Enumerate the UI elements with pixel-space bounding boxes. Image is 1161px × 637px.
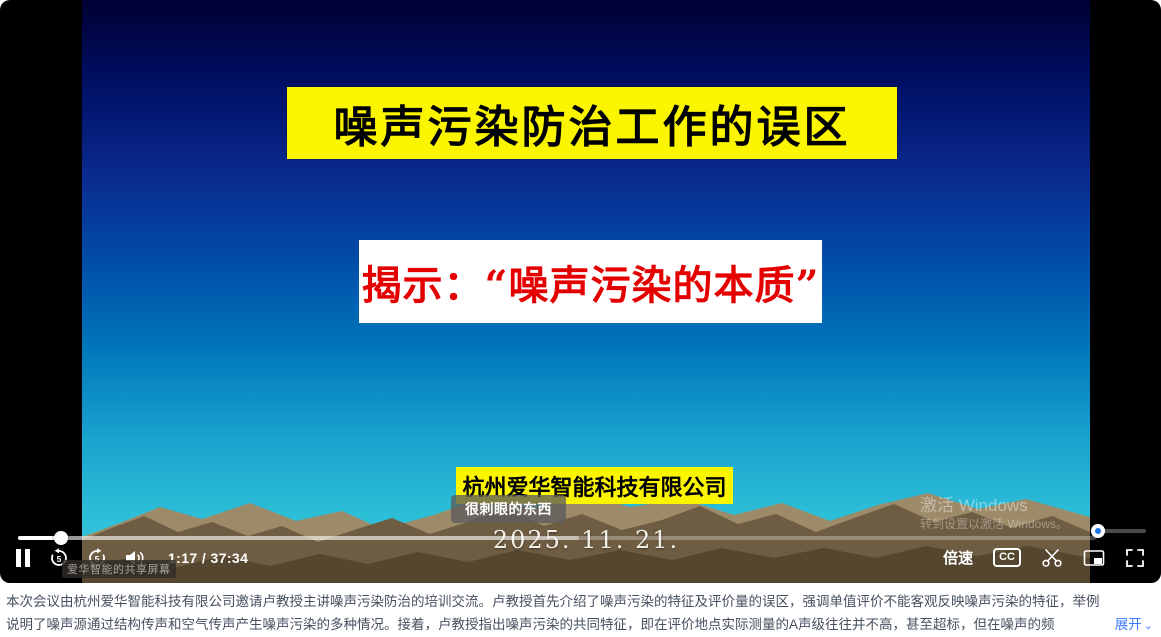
slide-title-box: 噪声污染防治工作的误区: [287, 87, 897, 159]
playback-speed-button[interactable]: 倍速: [943, 547, 973, 568]
progress-bar[interactable]: [18, 531, 1096, 545]
shared-screen-label: 爱华智能的共享屏幕: [62, 560, 176, 578]
time-display: 1:17 / 37:34: [168, 550, 248, 566]
picture-in-picture-button[interactable]: [1083, 549, 1105, 567]
svg-text:5: 5: [57, 554, 62, 564]
fullscreen-icon: [1125, 548, 1145, 568]
captions-button[interactable]: CC: [993, 548, 1021, 567]
chevron-down-icon: ⌄: [1144, 620, 1153, 632]
pip-icon: [1083, 549, 1105, 567]
right-controls[interactable]: 倍速 CC: [943, 547, 1145, 568]
progress-buffer: [18, 536, 579, 540]
pause-button[interactable]: [14, 548, 32, 568]
progress-handle[interactable]: [54, 531, 68, 545]
slide-subtitle-box: 揭示：“噪声污染的本质”: [359, 240, 822, 323]
expand-label: 展开: [1115, 617, 1142, 632]
meeting-summary: 本次会议由杭州爱华智能科技有限公司邀请卢教授主讲噪声污染防治的培训交流。卢教授首…: [0, 590, 1161, 637]
progress-right-track[interactable]: [1098, 529, 1146, 533]
fullscreen-button[interactable]: [1125, 548, 1145, 568]
summary-line-1: 本次会议由杭州爱华智能科技有限公司邀请卢教授主讲噪声污染防治的培训交流。卢教授首…: [6, 590, 1155, 613]
clip-button[interactable]: [1041, 548, 1063, 568]
expand-summary-link[interactable]: 展开⌄: [1101, 613, 1153, 633]
video-player[interactable]: 噪声污染防治工作的误区 揭示：“噪声污染的本质” 杭州爱华智能科技有限公司 20…: [0, 0, 1161, 583]
scissors-icon: [1041, 548, 1063, 568]
progress-scrub-handle[interactable]: [1091, 524, 1105, 538]
slide-subtitle: 揭示：“噪声污染的本质”: [361, 253, 819, 311]
danmaku-comment: 很刺眼的东西: [451, 495, 566, 523]
page-title: 噪声污染防治工作的误区: [334, 91, 851, 155]
pause-icon: [14, 548, 32, 568]
video-stage[interactable]: 噪声污染防治工作的误区 揭示：“噪声污染的本质” 杭州爱华智能科技有限公司 20…: [82, 0, 1090, 583]
summary-line-2: 说明了噪声源通过结构传声和空气传声产生噪声污染的多种情况。接着，卢教授指出噪声污…: [6, 613, 1155, 636]
